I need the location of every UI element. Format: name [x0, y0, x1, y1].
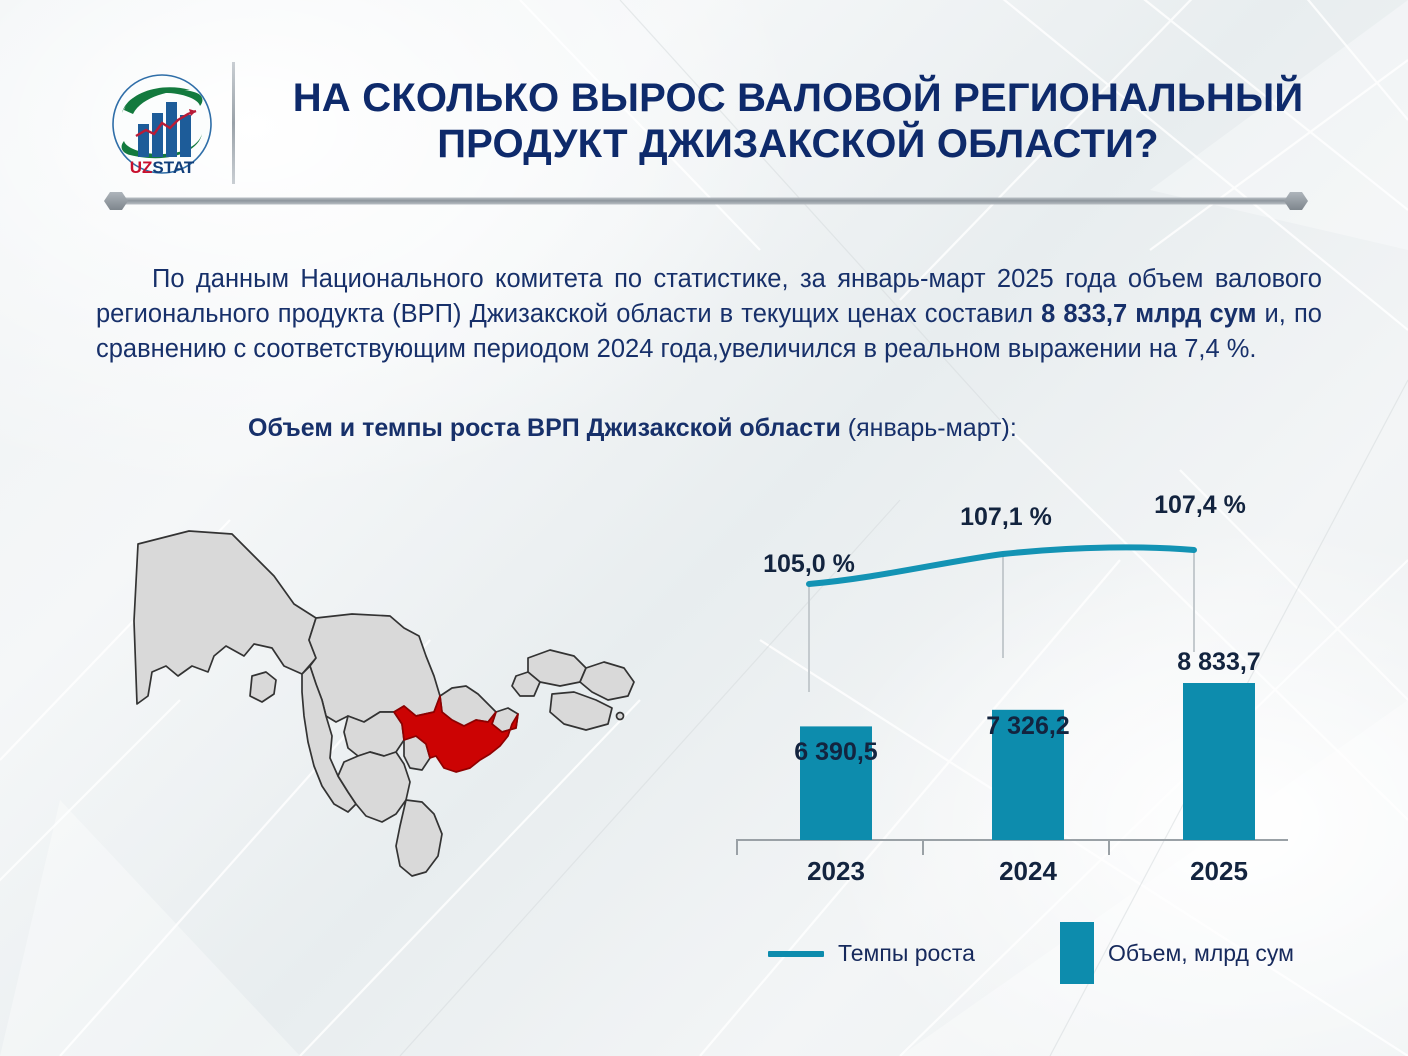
header-separator	[232, 62, 235, 184]
header-divider	[100, 190, 1312, 212]
value-label-2024: 7 326,2	[986, 712, 1069, 740]
pct-label-2024: 107,1 %	[960, 503, 1052, 531]
legend-bar-swatch	[1060, 922, 1094, 984]
legend-item-growth-rate: Темпы роста	[768, 940, 975, 967]
map-region-khorezm	[250, 672, 276, 702]
title-line-2: ПРОДУКТ ДЖИЗАКСКОЙ ОБЛАСТИ?	[238, 122, 1358, 168]
line-drop-guides	[809, 550, 1194, 692]
uzstat-logo: UZSTAT	[106, 70, 218, 182]
header: UZSTAT НА СКОЛЬКО ВЫРОС ВАЛОВОЙ РЕГИОНАЛ…	[0, 0, 1408, 210]
map-enclave	[617, 713, 624, 720]
legend-label-volume: Объем, млрд сум	[1108, 940, 1294, 967]
chart-legend: Темпы роста Объем, млрд сум	[760, 922, 1300, 988]
map-region-karakalpakstan	[134, 531, 316, 704]
intro-paragraph: По данным Национального комитета по стат…	[96, 262, 1322, 368]
infographic-canvas: UZSTAT НА СКОЛЬКО ВЫРОС ВАЛОВОЙ РЕГИОНАЛ…	[0, 0, 1408, 1056]
map-region-andijan	[580, 662, 634, 700]
bar-2025	[1183, 683, 1255, 840]
value-label-2025: 8 833,7	[1177, 648, 1260, 676]
uzbekistan-map	[104, 516, 674, 926]
chart-caption: Объем и темпы роста ВРП Джизакской облас…	[248, 414, 1017, 443]
x-label-2023: 2023	[807, 856, 865, 886]
map-region-samarkand	[344, 712, 404, 756]
chart-caption-normal: (январь-март):	[841, 414, 1017, 442]
x-label-2024: 2024	[999, 856, 1057, 886]
chart-caption-strong: Объем и темпы роста ВРП Джизакской облас…	[248, 414, 841, 442]
logo-text-stat: STAT	[152, 158, 194, 177]
pct-label-2025: 107,4 %	[1154, 491, 1246, 519]
map-region-navoi	[309, 614, 440, 722]
x-label-2025: 2025	[1190, 856, 1248, 886]
title-line-1: НА СКОЛЬКО ВЫРОС ВАЛОВОЙ РЕГИОНАЛЬНЫЙ	[293, 76, 1304, 120]
pct-label-2023: 105,0 %	[763, 550, 855, 578]
legend-line-swatch	[768, 951, 824, 957]
legend-label-growth-rate: Темпы роста	[838, 940, 975, 967]
logo-text-uz: UZ	[130, 158, 153, 177]
paragraph-highlight-value: 8 833,7 млрд сум	[1041, 300, 1256, 328]
grp-chart: 105,0 % 107,1 % 107,4 % 6 390,5 7 326,2 …	[728, 480, 1298, 900]
svg-text:UZSTAT: UZSTAT	[130, 158, 195, 177]
legend-item-volume: Объем, млрд сум	[1060, 922, 1294, 984]
map-region-surkhandarya	[396, 800, 442, 876]
page-title: НА СКОЛЬКО ВЫРОС ВАЛОВОЙ РЕГИОНАЛЬНЫЙ ПР…	[238, 76, 1358, 167]
value-label-2023: 6 390,5	[794, 738, 878, 766]
growth-rate-line	[809, 547, 1194, 584]
